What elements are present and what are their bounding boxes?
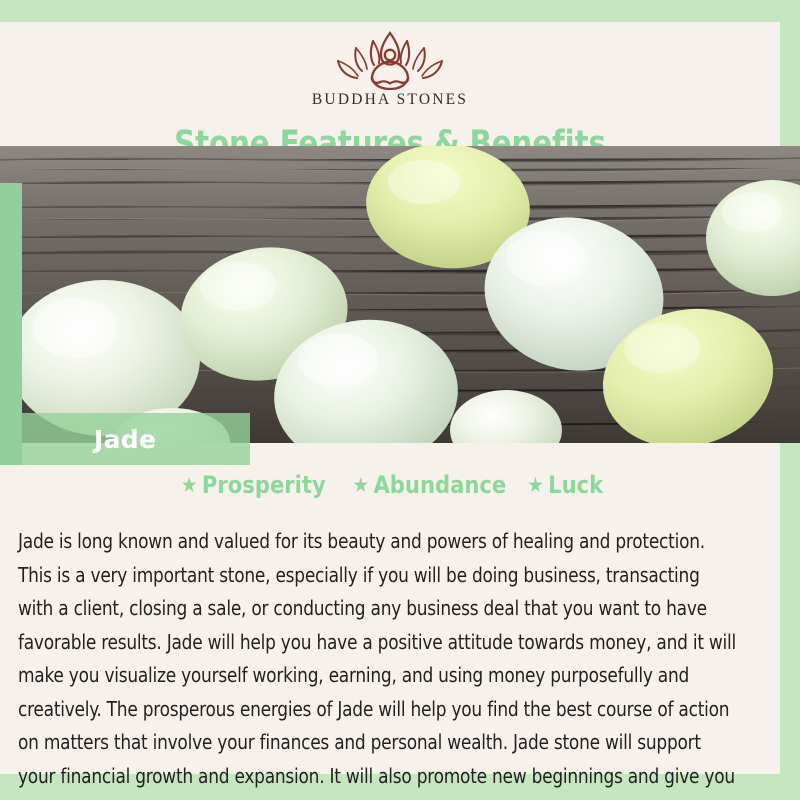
brand-name: BUDDHA STONES — [312, 91, 468, 109]
star-icon: ★ — [528, 475, 545, 496]
stone-name-band: Jade — [22, 413, 250, 465]
benefit-label: Prosperity — [202, 471, 326, 499]
benefit-label: Luck — [549, 471, 604, 499]
benefit-abundance: ★ Abundance — [352, 471, 506, 499]
stone-photo — [0, 146, 800, 443]
benefits-row: ★ Prosperity ★ Abundance ★ Luck — [0, 468, 780, 502]
stone-name: Jade — [94, 425, 156, 454]
benefit-label: Abundance — [373, 471, 506, 499]
benefit-prosperity: ★ Prosperity — [181, 471, 326, 499]
brand-header: BUDDHA STONES — [0, 22, 780, 120]
photo-left-accent-bar — [0, 183, 22, 465]
star-icon: ★ — [352, 475, 369, 496]
lotus-meditation-icon — [316, 28, 464, 90]
stone-description: Jade is long known and valued for its be… — [18, 525, 736, 800]
benefit-luck: ★ Luck — [528, 471, 604, 499]
stone-info-poster: BUDDHA STONES Stone Features & Benefits — [0, 0, 800, 800]
star-icon: ★ — [181, 475, 198, 496]
